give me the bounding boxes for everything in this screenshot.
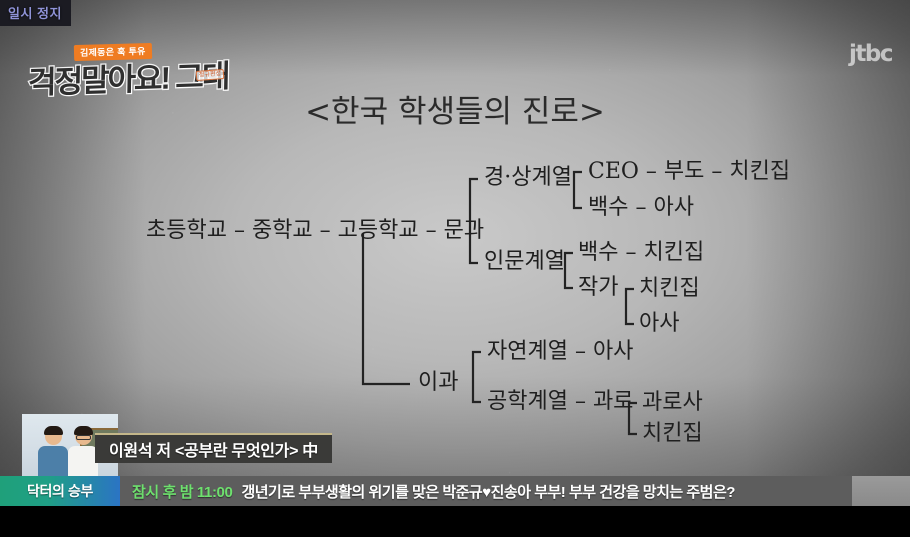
node-gwaro-chicken: 치킨집 [642,423,703,445]
glasses-icon [76,435,91,440]
doctor-body [68,446,98,478]
doctor-head [45,428,62,445]
tv-screenshot: 일시 정지 김제동은 훅 투유 걱정말아요! 그대 정규편성 jtbc <한국 … [0,0,910,537]
thumbnail-doctor-blue [38,428,68,478]
ticker-description: 갱년기로 부부생활의 위기를 맞은 박준규♥진송아 부부! 부부 건강을 망치는… [241,481,734,502]
bottom-ticker-bar: 닥터의 승부 잠시 후 밤 11:00 갱년기로 부부생활의 위기를 맞은 박준… [0,476,910,506]
node-jakga: 작가 [578,277,618,299]
node-jayeon: 자연계열 – 아사 [487,341,633,363]
node-inmun: 인문계열 [484,251,565,273]
ticker-tail [852,476,910,506]
node-jakga-asa: 아사 [639,313,679,335]
node-gyeongsang: 경·상계열 [484,167,572,189]
ticker-program-name: 닥터의 승부 [0,476,120,506]
node-gonghak: 공학계열 – 과로 [487,391,633,413]
node-baeksu-asa: 백수 – 아사 [588,197,694,219]
node-ceo-path: CEO – 부도 – 치킨집 [588,161,790,183]
doctor-head [75,428,92,445]
ticker-content: 잠시 후 밤 11:00 갱년기로 부부생활의 위기를 맞은 박준규♥진송아 부… [120,476,852,506]
node-baeksu-chicken: 백수 – 치킨집 [578,242,704,264]
doctor-hair [44,426,63,435]
node-jakga-chicken: 치킨집 [639,278,700,300]
node-igwa: 이과 [418,372,458,394]
node-gwaro-sa: 과로사 [642,392,703,414]
doctor-hair [74,426,93,435]
source-caption-banner: 이원석 저 <공부란 무엇인가> 中 [95,433,332,463]
doctor-body [38,446,68,478]
source-caption-text: 이원석 저 <공부란 무엇인가> 中 [109,437,318,461]
ticker-airtime: 잠시 후 밤 11:00 [132,481,232,502]
letterbox-bottom [0,506,910,537]
node-trunk: 초등학교 – 중학교 – 고등학교 – 문과 [146,220,484,242]
thumbnail-doctor-white [68,428,98,478]
